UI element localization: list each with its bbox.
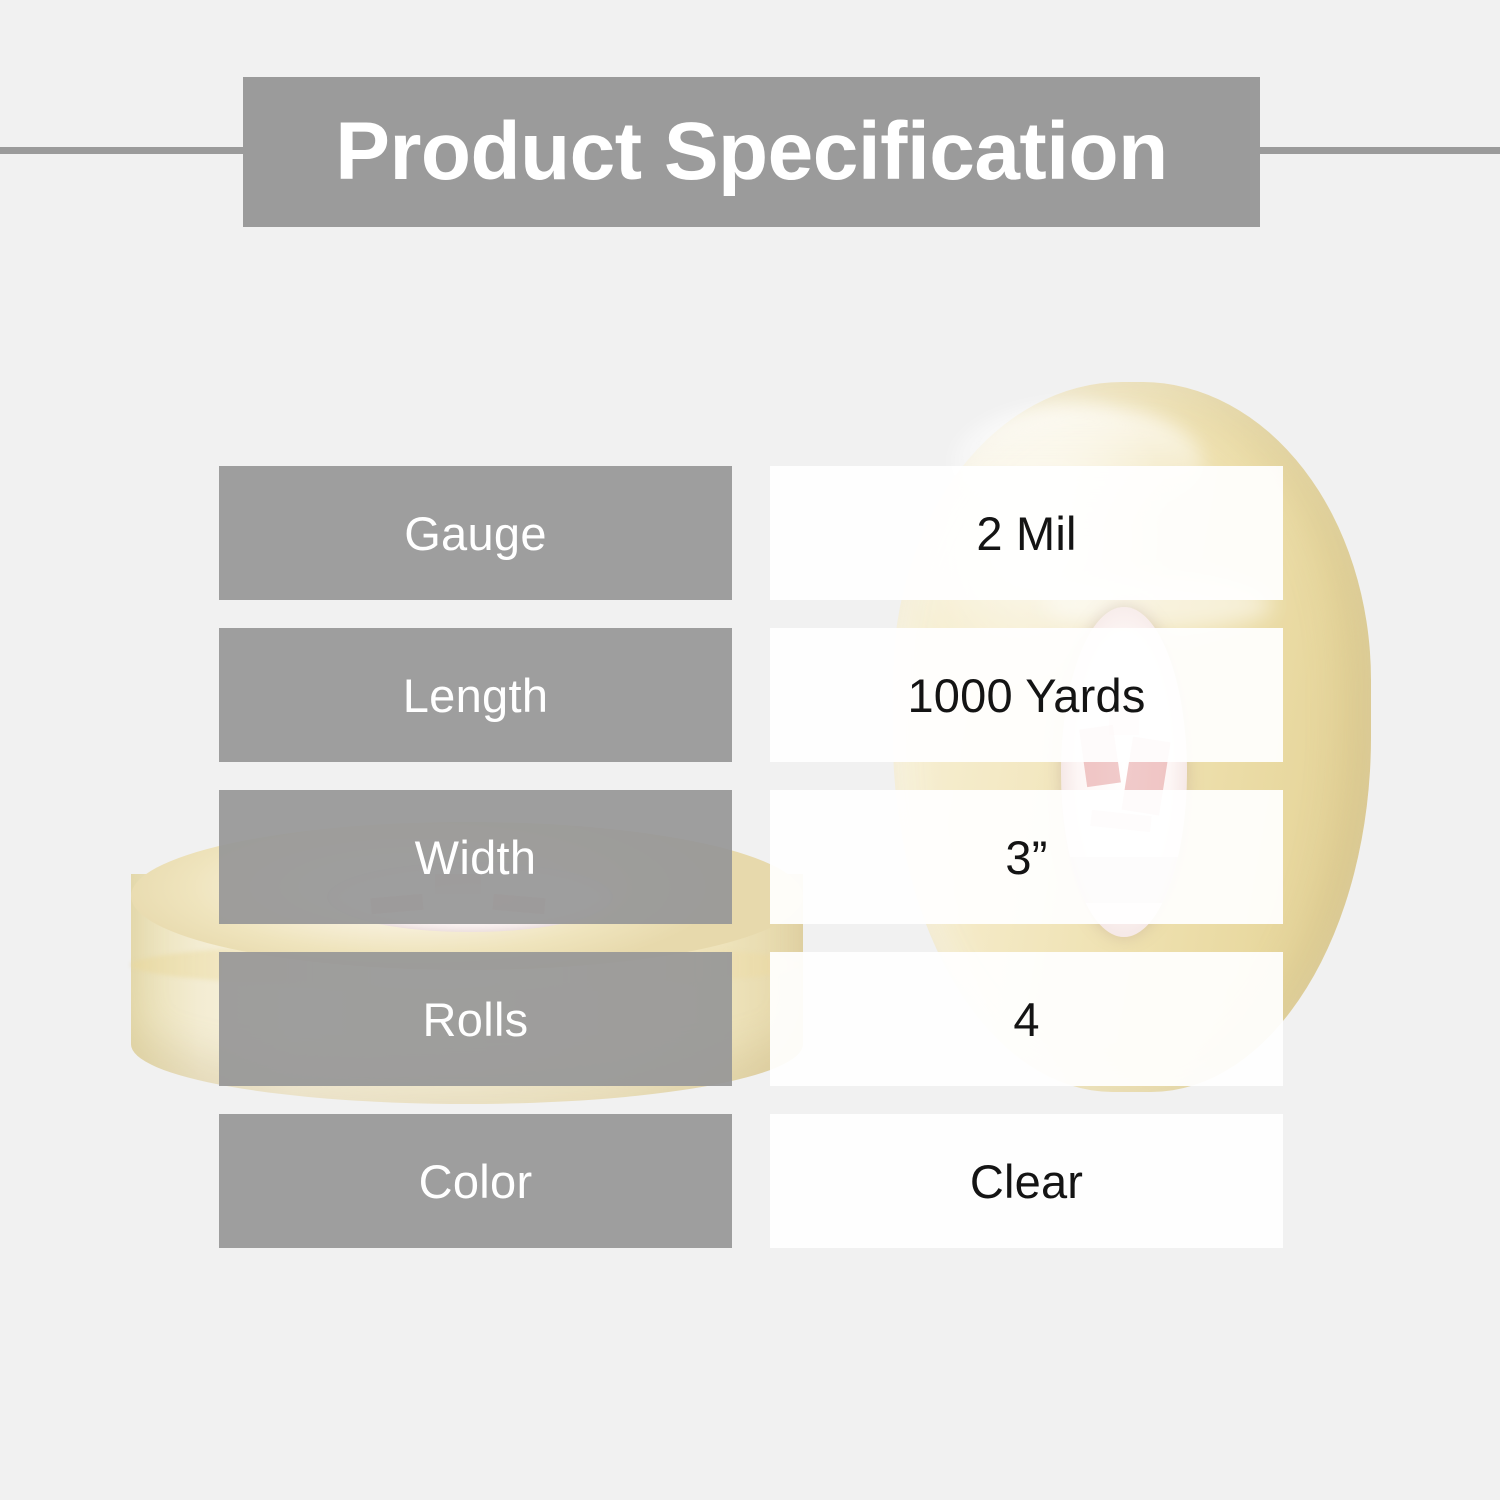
spec-label-cell-length: Length (219, 628, 732, 762)
spec-label-text: Length (403, 672, 549, 719)
spec-value-cell-width: 3” (770, 790, 1283, 924)
spec-row-rolls: Rolls 4 (219, 952, 1283, 1086)
page-title: Product Specification (335, 111, 1167, 193)
spec-label-cell-color: Color (219, 1114, 732, 1248)
spec-label-text: Rolls (423, 996, 529, 1043)
spec-label-cell-width: Width (219, 790, 732, 924)
title-banner: Product Specification (243, 77, 1260, 227)
spec-label-cell-gauge: Gauge (219, 466, 732, 600)
spec-row-color: Color Clear (219, 1114, 1283, 1248)
spec-label-text: Gauge (404, 510, 547, 557)
spec-label-text: Width (415, 834, 537, 881)
spec-value-text: 3” (1005, 834, 1047, 881)
spec-row-width: Width 3” (219, 790, 1283, 924)
spec-value-cell-rolls: 4 (770, 952, 1283, 1086)
product-specification-graphic: Product Specification (0, 0, 1500, 1500)
spec-value-text: 2 Mil (976, 510, 1076, 557)
spec-value-text: 4 (1013, 996, 1039, 1043)
spec-value-cell-length: 1000 Yards (770, 628, 1283, 762)
spec-label-cell-rolls: Rolls (219, 952, 732, 1086)
spec-value-text: 1000 Yards (907, 672, 1145, 719)
spec-value-text: Clear (970, 1158, 1083, 1205)
spec-row-length: Length 1000 Yards (219, 628, 1283, 762)
spec-value-cell-gauge: 2 Mil (770, 466, 1283, 600)
spec-label-text: Color (419, 1158, 533, 1205)
spec-row-gauge: Gauge 2 Mil (219, 466, 1283, 600)
spec-value-cell-color: Clear (770, 1114, 1283, 1248)
